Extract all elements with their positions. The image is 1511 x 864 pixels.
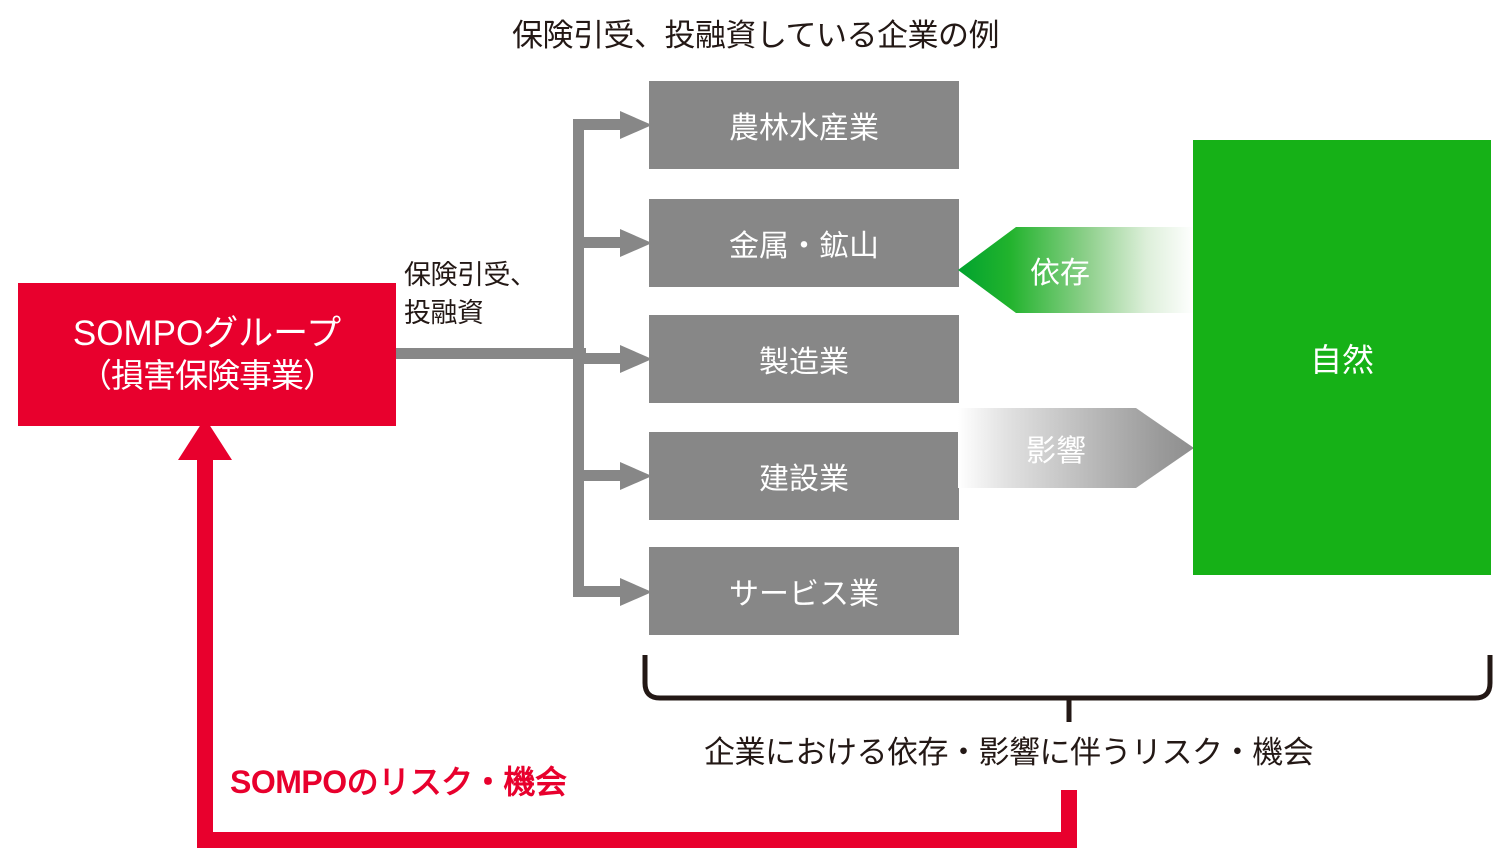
industry-box-manufacturing: 製造業 [649, 315, 959, 403]
sompo-group-line2: （損害保険事業） [79, 356, 335, 396]
flow-label-line2: 投融資 [404, 294, 574, 332]
industry-box-services: サービス業 [649, 547, 959, 635]
industry-label: 製造業 [759, 337, 849, 381]
industry-box-construction: 建設業 [649, 432, 959, 520]
industry-label: 金属・鉱山 [729, 221, 879, 265]
nature-label: 自然 [1310, 335, 1374, 381]
underwriting-investment-label: 保険引受、 投融資 [404, 256, 574, 333]
industry-label: サービス業 [729, 569, 879, 613]
sompo-group-line1: SOMPOグループ [73, 313, 341, 356]
diagram-canvas: 保険引受、投融資している企業の例 SOMPOグループ （損害保険事業） [0, 0, 1511, 864]
impact-arrow: 影響 [958, 402, 1194, 494]
dependency-arrow: 依存 [958, 221, 1194, 319]
industry-label: 建設業 [759, 454, 849, 498]
industry-box-metals-mining: 金属・鉱山 [649, 199, 959, 287]
nature-box: 自然 [1193, 140, 1491, 575]
industry-label: 農林水産業 [729, 103, 879, 147]
risk-opportunity-caption: 企業における依存・影響に伴うリスク・機会 [704, 727, 1313, 772]
flow-label-line1: 保険引受、 [404, 260, 537, 290]
sompo-group-box: SOMPOグループ （損害保険事業） [18, 283, 396, 426]
impact-arrow-label: 影響 [1026, 426, 1086, 470]
sompo-risk-opportunity-label: SOMPOのリスク・機会 [230, 757, 567, 803]
industry-box-agriculture: 農林水産業 [649, 81, 959, 169]
dependency-arrow-label: 依存 [1030, 248, 1090, 292]
page-title: 保険引受、投融資している企業の例 [0, 10, 1511, 55]
